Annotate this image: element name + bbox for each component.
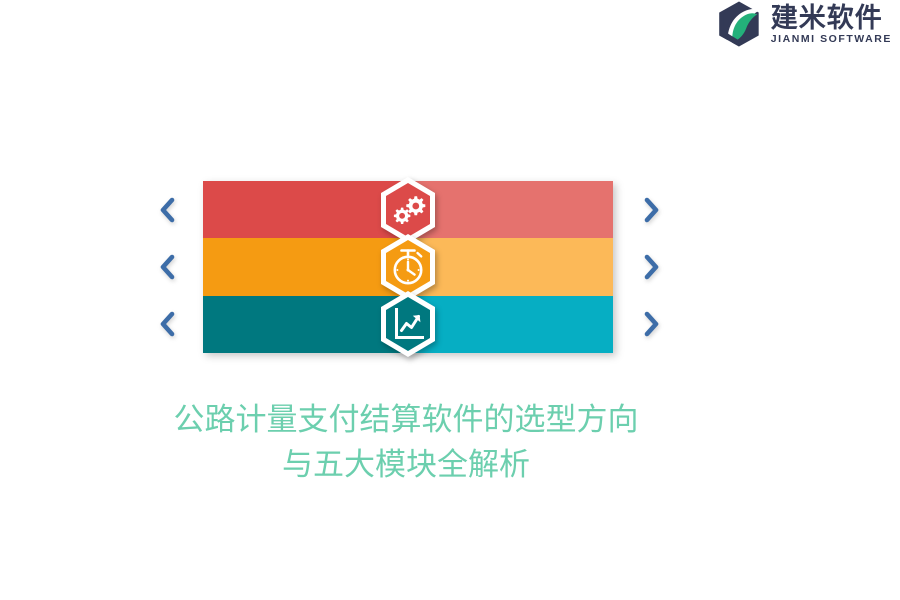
slide-canvas: 建米软件 JIANMI SOFTWARE <box>0 0 900 600</box>
brand-logo: 建米软件 JIANMI SOFTWARE <box>715 0 892 48</box>
chevron-left-icon <box>158 254 176 280</box>
chevron-left-icon <box>158 197 176 223</box>
chevron-right-row-2[interactable] <box>635 238 669 295</box>
infographic-bars <box>203 181 613 353</box>
chevron-right-row-1[interactable] <box>635 181 669 238</box>
chevron-right-icon <box>643 197 661 223</box>
chevron-left-row-3[interactable] <box>150 296 184 353</box>
bar-row-3-left-half <box>203 296 408 353</box>
chevron-right-row-3[interactable] <box>635 296 669 353</box>
brand-text: 建米软件 JIANMI SOFTWARE <box>771 2 892 46</box>
bar-row-1-right-half <box>408 181 613 238</box>
bar-row-1[interactable] <box>203 181 613 238</box>
brand-name-en: JIANMI SOFTWARE <box>771 33 892 46</box>
bar-row-2-left-half <box>203 238 408 295</box>
chevron-left-icon <box>158 311 176 337</box>
page-title-line-1: 公路计量支付结算软件的选型方向 <box>0 398 812 443</box>
bar-row-2[interactable] <box>203 238 613 295</box>
page-title: 公路计量支付结算软件的选型方向 与五大模块全解析 <box>0 398 812 488</box>
chevron-right-icon <box>643 311 661 337</box>
bar-row-1-left-half <box>203 181 408 238</box>
left-arrow-column <box>150 181 184 353</box>
page-title-line-2: 与五大模块全解析 <box>0 443 812 488</box>
bar-stack <box>203 181 613 353</box>
right-arrow-column <box>635 181 669 353</box>
brand-name-cn: 建米软件 <box>771 4 892 33</box>
jianmi-leaf-hexagon-logo-icon <box>715 0 763 48</box>
chevron-left-row-1[interactable] <box>150 181 184 238</box>
chevron-right-icon <box>643 254 661 280</box>
bar-row-2-right-half <box>408 238 613 295</box>
bar-row-3-right-half <box>408 296 613 353</box>
chevron-left-row-2[interactable] <box>150 238 184 295</box>
bar-row-3[interactable] <box>203 296 613 353</box>
